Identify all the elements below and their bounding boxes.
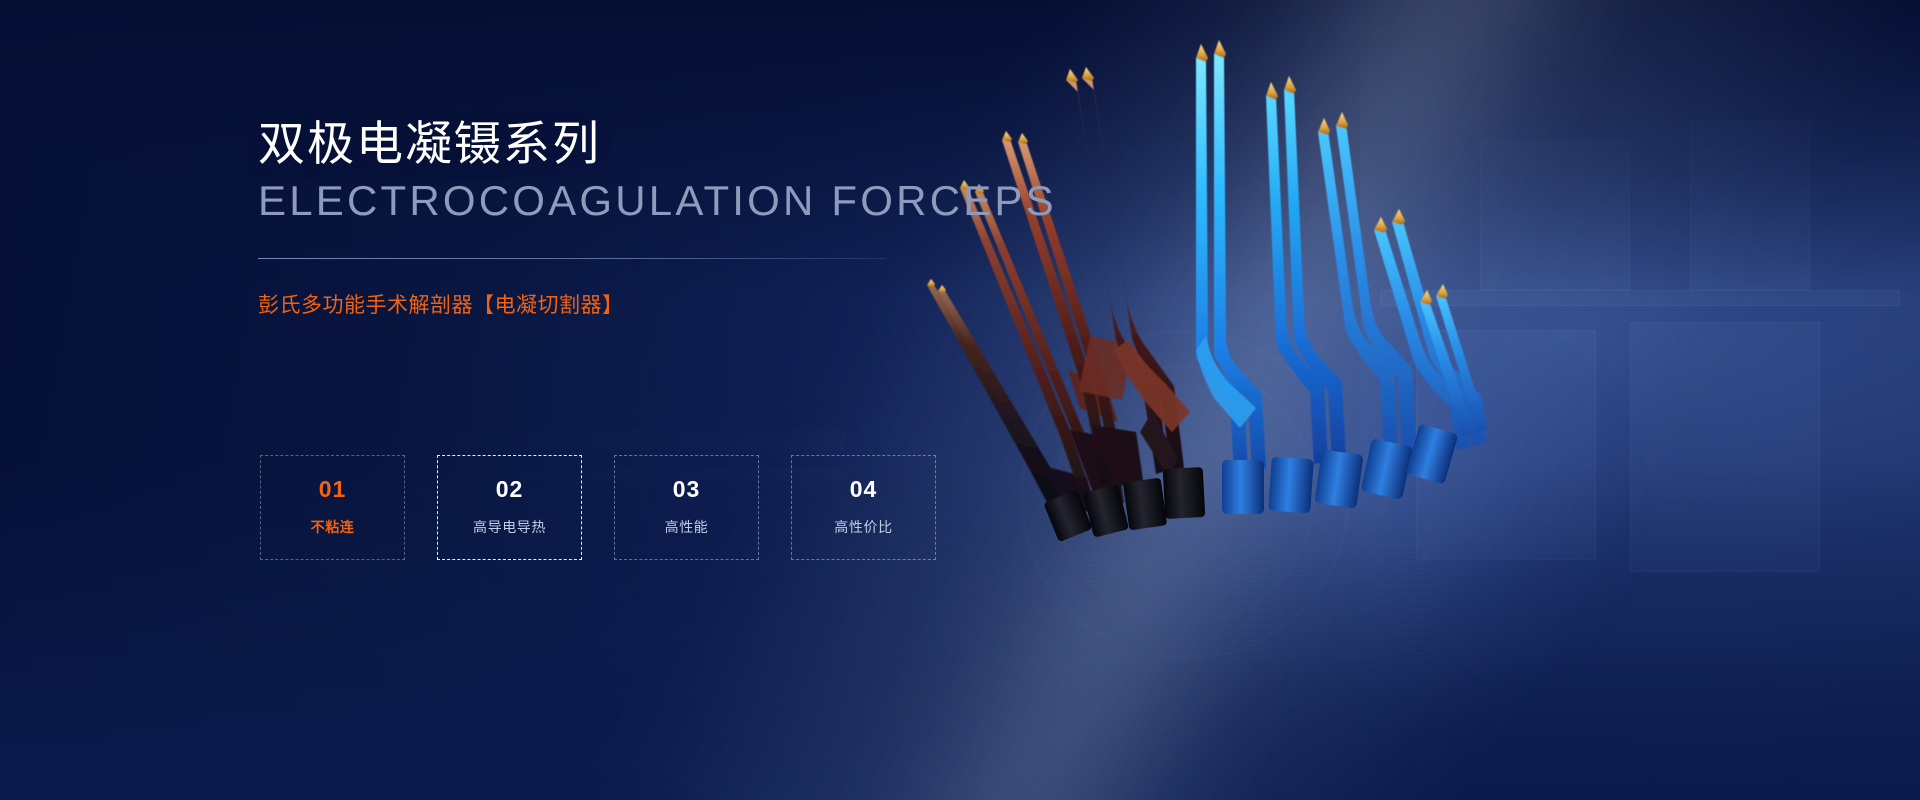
feature-number-04: 04 <box>850 478 878 501</box>
feature-label-02: 高导电导热 <box>473 517 546 537</box>
feature-box-04[interactable]: 04 高性价比 <box>791 455 936 560</box>
feature-number-02: 02 <box>496 478 524 501</box>
page-title-en: ELECTROCOAGULATION FORCEPS <box>258 180 978 222</box>
feature-label-03: 高性能 <box>665 517 709 537</box>
feature-box-03[interactable]: 03 高性能 <box>614 455 759 560</box>
banner-text-block: 双极电凝镊系列 ELECTROCOAGULATION FORCEPS 彭氏多功能… <box>258 118 978 319</box>
feature-number-01: 01 <box>319 478 347 501</box>
title-divider <box>258 258 886 259</box>
banner-stage: 双极电凝镊系列 ELECTROCOAGULATION FORCEPS 彭氏多功能… <box>0 0 1920 800</box>
page-subtitle: 彭氏多功能手术解剖器【电凝切割器】 <box>258 289 978 319</box>
feature-box-02[interactable]: 02 高导电导热 <box>437 455 582 560</box>
page-title-cn: 双极电凝镊系列 <box>258 118 978 171</box>
feature-number-03: 03 <box>673 478 701 501</box>
forceps-dark-4 <box>1066 67 1190 476</box>
forceps-illustration <box>900 40 1460 570</box>
feature-label-04: 高性价比 <box>834 517 892 537</box>
forceps-blue-2 <box>1266 76 1346 464</box>
forceps-blue-1 <box>1196 40 1266 472</box>
feature-list: 01 不粘连 02 高导电导热 03 高性能 04 高性价比 <box>260 455 968 560</box>
feature-label-01: 不粘连 <box>311 517 355 537</box>
feature-box-01[interactable]: 01 不粘连 <box>260 455 405 560</box>
